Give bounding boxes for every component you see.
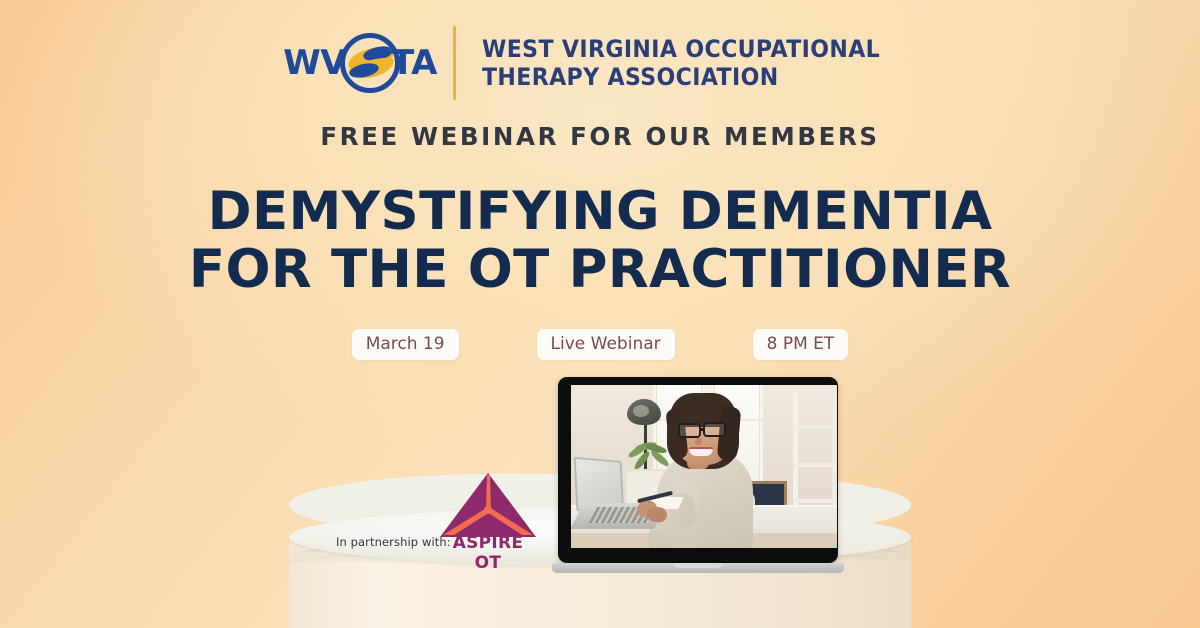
aspire-triangle-icon [440, 473, 536, 537]
pill-time: 8 PM ET [753, 329, 849, 360]
wvota-circle-emblem-icon [340, 33, 400, 93]
photo-person-smile [689, 447, 713, 456]
photo-shelf-board-3 [793, 499, 837, 503]
pill-date: March 19 [352, 329, 459, 360]
organization-name: WEST VIRGINIA OCCUPATIONAL THERAPY ASSOC… [482, 35, 880, 92]
laptop-lid [558, 377, 838, 563]
laptop-screen [571, 385, 837, 548]
photo-person-eyeglass-right [703, 422, 726, 437]
photo-person-eyeglass-left [678, 423, 701, 438]
page-title: DEMYSTIFYING DEMENTIA FOR THE OT PRACTIT… [0, 183, 1200, 299]
organization-name-line1: WEST VIRGINIA OCCUPATIONAL [482, 35, 880, 63]
partnership-label: In partnership with: [336, 535, 451, 549]
organization-name-line2: THERAPY ASSOCIATION [482, 63, 880, 91]
photo-lamp-highlight [633, 405, 649, 417]
promo-canvas: WV TA WEST VIRGINIA OCCUPATIONAL THERAPY… [0, 0, 1200, 628]
laptop-mockup [552, 377, 844, 577]
title-line-1: DEMYSTIFYING DEMENTIA [0, 183, 1200, 241]
laptop-notch [673, 563, 723, 568]
wvota-logo: WV TA WEST VIRGINIA OCCUPATIONAL THERAPY… [0, 22, 1200, 104]
photo-person-nose [695, 438, 702, 445]
detail-pill-group: March 19 Live Webinar 8 PM ET [0, 329, 1200, 360]
eyebrow-text: FREE WEBINAR FOR OUR MEMBERS [0, 122, 1200, 151]
partnership-block: In partnership with: ASPIRE OT [336, 470, 536, 560]
pill-format: Live Webinar [537, 329, 675, 360]
photo-shelf-board-1 [793, 425, 837, 429]
photo-person-eyeglass-bridge [700, 428, 705, 431]
title-line-2: FOR THE OT PRACTITIONER [0, 241, 1200, 299]
aspire-ot-logo: ASPIRE OT [440, 473, 536, 557]
wvota-logo-mark: WV TA [285, 22, 435, 104]
photo-shelf-board-2 [793, 463, 837, 467]
vertical-divider-icon [453, 26, 456, 100]
aspire-ot-wordmark: ASPIRE OT [440, 533, 536, 573]
logo-wordmark-left: WV [283, 46, 346, 80]
